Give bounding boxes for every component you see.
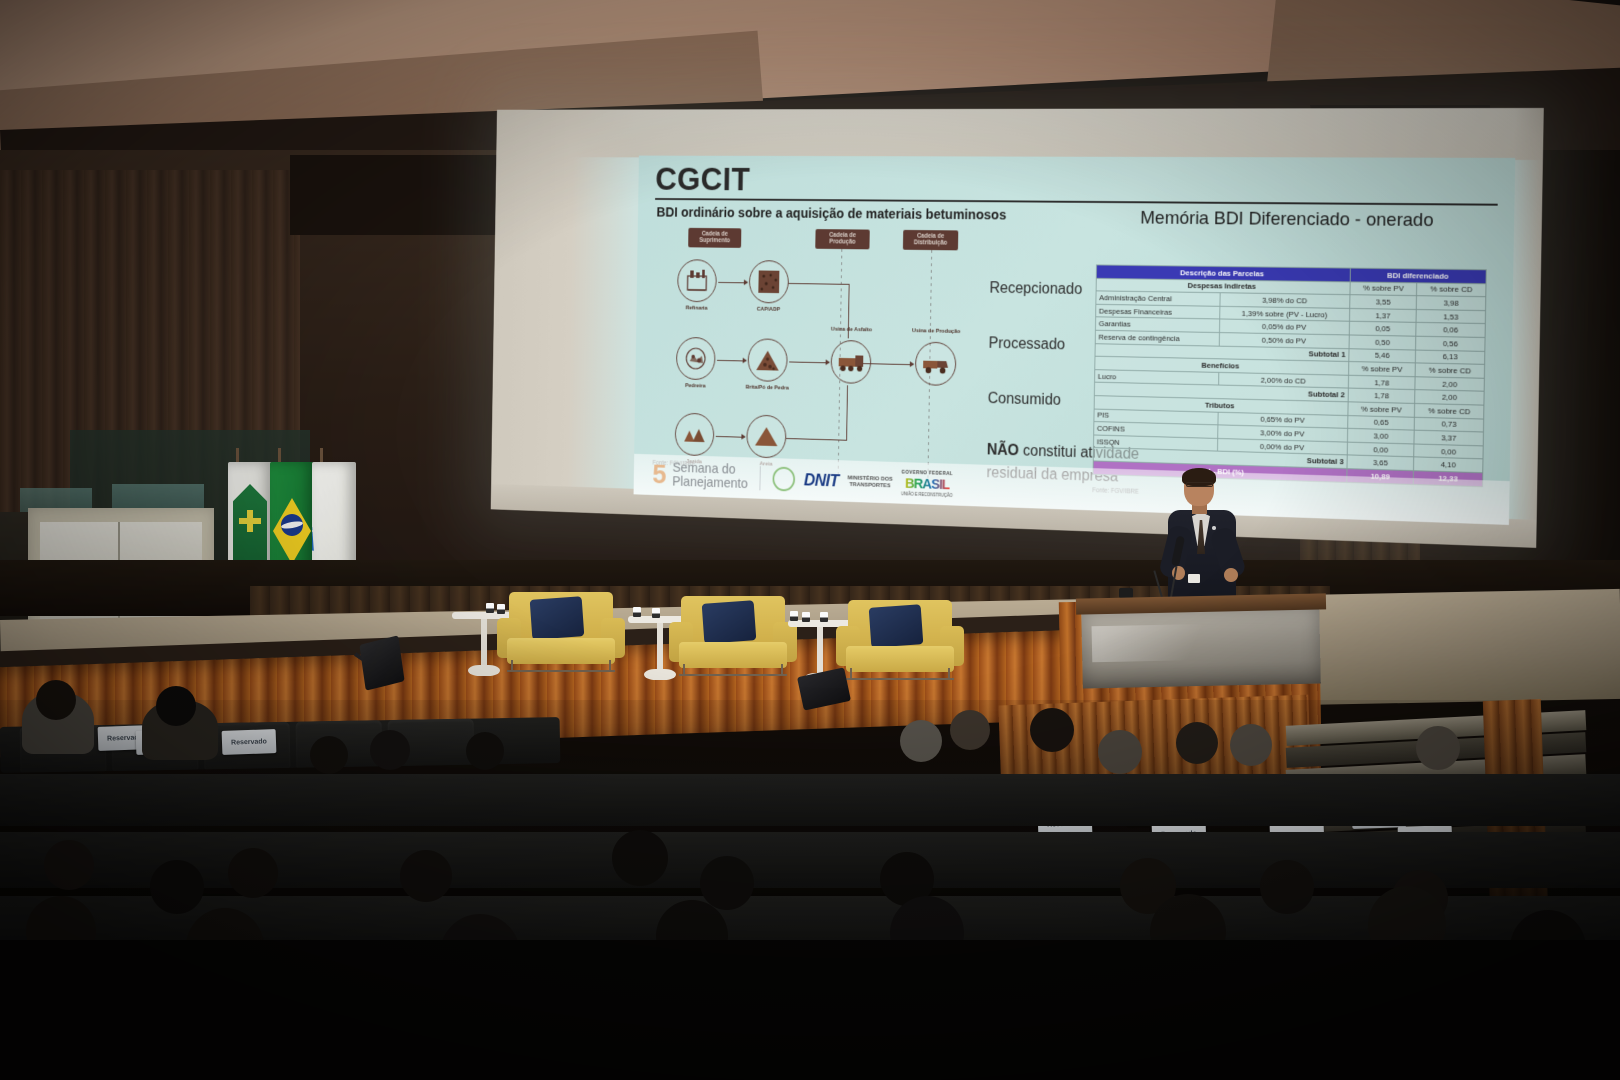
ministry-logo: MINISTÉRIO DOS TRANSPORTES: [847, 474, 892, 489]
table-cell-cd: 0,56: [1416, 336, 1485, 351]
side-table-1-stem: [481, 619, 487, 667]
chair-3-legs: [846, 670, 954, 680]
speaker-badge: [1188, 574, 1200, 583]
node-label-asphalt-plant: Usina de Asfalto: [819, 327, 884, 334]
foreground-dark-area: [0, 940, 1620, 1080]
brasil-mid: BRASIL: [901, 475, 953, 493]
stage-chair-2: [669, 596, 797, 676]
lapel-pin-icon: [1212, 526, 1216, 530]
bullet-recepcionado: Recepcionado: [989, 280, 1082, 299]
chair-2-cushion: [702, 600, 757, 644]
memo-title: Memória BDI Diferenciado - onerado: [1085, 207, 1493, 234]
node-asphalt-plant-icon: [831, 340, 872, 384]
node-deposit-icon: [675, 413, 715, 457]
arrow-refinery-to-cap: [718, 282, 747, 284]
speaker-person: [1150, 470, 1270, 610]
attendee-head: [150, 860, 204, 914]
chain-tag-distribution: Cadeia de Distribuição: [903, 230, 958, 250]
attendee-head: [400, 850, 452, 902]
slide-title-rule: [655, 198, 1498, 206]
dnit-logo: DNIT: [804, 470, 839, 491]
arrow-to-asphalt-plant: [789, 361, 829, 363]
node-asphalt-icon: [749, 260, 789, 303]
cup-3: [633, 607, 641, 617]
chair-3-seat: [846, 646, 954, 672]
cup-1: [486, 603, 494, 613]
podium-face: [1081, 606, 1321, 689]
attendee-head: [44, 840, 94, 890]
attendee-head: [466, 732, 504, 770]
glasses-icon: [1186, 482, 1213, 487]
table-cell-pv: 0,05: [1349, 322, 1416, 337]
table-subtotal-cd: 6,13: [1416, 350, 1485, 365]
chair-3-cushion: [869, 604, 924, 648]
chain-tag-production: Cadeia de Produção: [815, 229, 869, 249]
table-cell-cd: 1,53: [1416, 309, 1485, 324]
attendee-head: [1176, 722, 1218, 764]
node-label-refinery: Refinaria: [665, 305, 728, 312]
event-name-line2: Planejamento: [672, 475, 748, 492]
chain-tag-supply: Cadeia de Suprimento: [688, 228, 741, 248]
bullet-processado: Processado: [989, 335, 1066, 354]
cup-6: [802, 612, 810, 622]
node-refinery-icon: [677, 259, 717, 302]
chair-2-legs: [679, 666, 787, 676]
node-sand-icon: [746, 415, 786, 459]
bdi-table: Descrição das ParcelasBDI diferenciadoDe…: [1093, 264, 1487, 486]
confidence-monitor: [359, 635, 404, 690]
side-table-1-base: [468, 665, 500, 676]
attendee-head: [900, 720, 942, 762]
event-name: Semana do Planejamento: [672, 461, 748, 492]
connector-top-horizontal: [789, 283, 850, 285]
government-logos: DNIT MINISTÉRIO DOS TRANSPORTES GOVERNO …: [773, 466, 953, 498]
table-unit-cd: % sobre CD: [1417, 282, 1486, 296]
node-label-production-plant: Usina de Produção: [903, 328, 969, 335]
ministry-line2: TRANSPORTES: [847, 481, 892, 489]
table-cell-pv: 0,50: [1349, 335, 1416, 350]
auditorium-scene: CGCIT BDI ordinário sobre a aquisição de…: [0, 0, 1620, 1080]
slide-subtitle: BDI ordinário sobre a aquisição de mater…: [656, 205, 1006, 223]
attendee-head: [228, 848, 278, 898]
screen-border-left: [491, 110, 637, 515]
attendee-head: [1098, 730, 1142, 774]
slide-title: CGCIT: [655, 161, 750, 199]
chair-1-seat: [507, 638, 615, 664]
attendee-head: [1230, 724, 1272, 766]
event-number: 5: [652, 461, 667, 489]
connector-bottom-vertical: [846, 385, 848, 439]
attendee-head: [1030, 708, 1074, 752]
node-quarry-icon: [676, 337, 716, 380]
arrow-quarry-to-gravel: [717, 360, 746, 362]
brasil-bot: UNIÃO E RECONSTRUÇÃO: [901, 491, 953, 497]
node-label-gravel: Brita/Pó de Pedra: [735, 384, 799, 391]
attendee-head: [1260, 860, 1314, 914]
node-label-cap-adp: CAP/ADP: [737, 306, 801, 313]
stage-chair-3: [836, 600, 964, 680]
brasil-logo: GOVERNO FEDERAL BRASIL UNIÃO E RECONSTRU…: [901, 470, 953, 498]
note-emphasis: NÃO: [987, 442, 1019, 459]
table-subtotal-pv: 5,46: [1349, 348, 1416, 363]
chair-1-legs: [507, 662, 615, 672]
stage-chair-1: [497, 592, 625, 672]
attendee-head: [612, 830, 668, 886]
table-cell-cd: 0,06: [1416, 323, 1485, 338]
table-unit-pv: % sobre PV: [1350, 281, 1417, 295]
bullet-consumido: Consumido: [988, 391, 1061, 410]
side-table-3-stem: [817, 627, 823, 675]
attendee-head: [950, 710, 990, 750]
cup-7: [820, 612, 828, 622]
attendee-head: [310, 736, 348, 774]
node-label-quarry: Pedreira: [664, 383, 727, 390]
attendee-front-left-head: [36, 680, 76, 720]
chair-2-seat: [679, 642, 787, 668]
chair-1-cushion: [530, 596, 585, 640]
seat-row-2[interactable]: [0, 774, 1620, 826]
arrow-deposit-to-sand: [716, 436, 745, 438]
flag-df-cross-icon: [239, 510, 261, 532]
cup-5: [790, 611, 798, 621]
node-production-plant-icon: [915, 342, 957, 386]
circle-logo-icon: [773, 467, 796, 492]
footer-divider: [760, 466, 761, 490]
cup-4: [652, 608, 660, 618]
speaker-hand-right: [1224, 568, 1238, 582]
projection-screen: CGCIT BDI ordinário sobre a aquisição de…: [491, 108, 1544, 548]
side-table-2-stem: [657, 623, 663, 671]
attendee-head: [1416, 726, 1460, 770]
table-cell-pv: 3,55: [1350, 295, 1417, 309]
node-gravel-icon: [747, 338, 787, 382]
screen-border-top: [496, 108, 1544, 160]
table-cell-cd: 3,98: [1417, 296, 1486, 311]
attendee-front-mid-head: [156, 686, 196, 726]
attendee-head: [700, 856, 754, 910]
table-cell-pv: 1,37: [1349, 308, 1416, 323]
attendee-head: [370, 730, 410, 770]
reservado-sign: Reservado: [222, 729, 277, 755]
presentation-slide: CGCIT BDI ordinário sobre a aquisição de…: [634, 156, 1516, 525]
